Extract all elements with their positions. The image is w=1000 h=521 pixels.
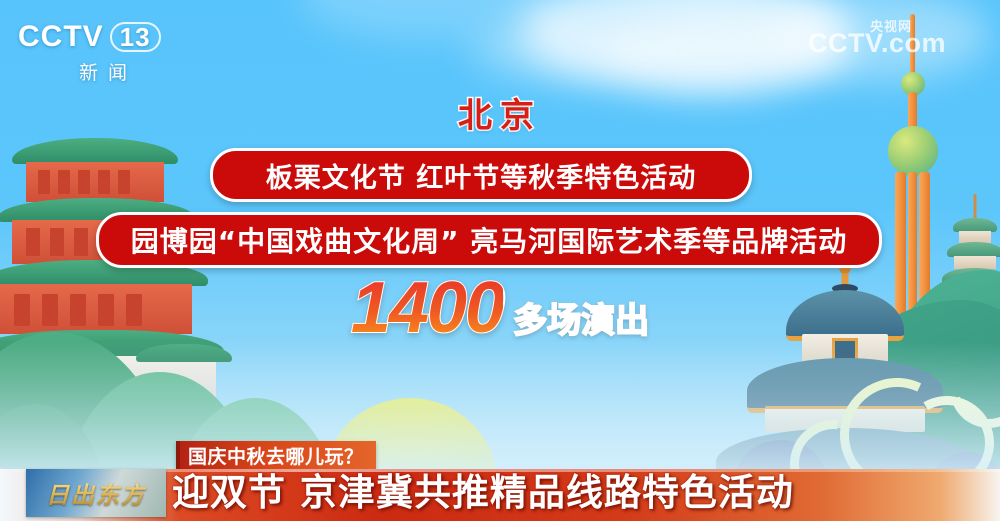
activity-banner-2: 园博园“中国戏曲文化周” 亮马河国际艺术季等品牌活动 bbox=[96, 212, 882, 268]
activity-banner-1: 板栗文化节 红叶节等秋季特色活动 bbox=[210, 148, 752, 202]
program-logo-text: 日出东方 bbox=[46, 476, 146, 510]
performance-count-number: 1400 bbox=[351, 268, 503, 348]
cctv-wordmark: CCTV13 bbox=[18, 22, 188, 52]
performance-count-suffix-wrap: 多场演出 bbox=[503, 304, 649, 338]
cctv-letters: CCTV bbox=[18, 20, 104, 53]
channel-name-cn: 新闻 bbox=[18, 58, 188, 85]
performance-count-suffix: 多场演出 bbox=[513, 301, 649, 341]
activity-banner-1-text: 板栗文化节 红叶节等秋季特色活动 bbox=[266, 156, 696, 195]
activity-banner-2-text: 园博园“中国戏曲文化周” 亮马河国际艺术季等品牌活动 bbox=[131, 220, 848, 260]
city-title: 北京 bbox=[0, 88, 1000, 137]
headline-text: 迎双节 京津冀共推精品线路特色活动 bbox=[172, 462, 794, 516]
watermark-cn: 央视网 bbox=[870, 20, 912, 33]
channel-number: 13 bbox=[110, 22, 161, 52]
cloud-decoration bbox=[470, 20, 650, 80]
cctv-com-watermark: CCTV.com 央视网 bbox=[808, 30, 946, 57]
program-logo: 日出东方 bbox=[26, 469, 166, 517]
performance-count: 1400 1400 多场演出 bbox=[0, 272, 1000, 344]
cctv13-channel-logo: CCTV13 新闻 bbox=[18, 22, 188, 88]
performance-count-number-wrap: 1400 1400 bbox=[351, 272, 503, 344]
broadcast-frame: CCTV13 新闻 CCTV.com 央视网 北京 板栗文化节 红叶节等秋季特色… bbox=[0, 0, 1000, 521]
